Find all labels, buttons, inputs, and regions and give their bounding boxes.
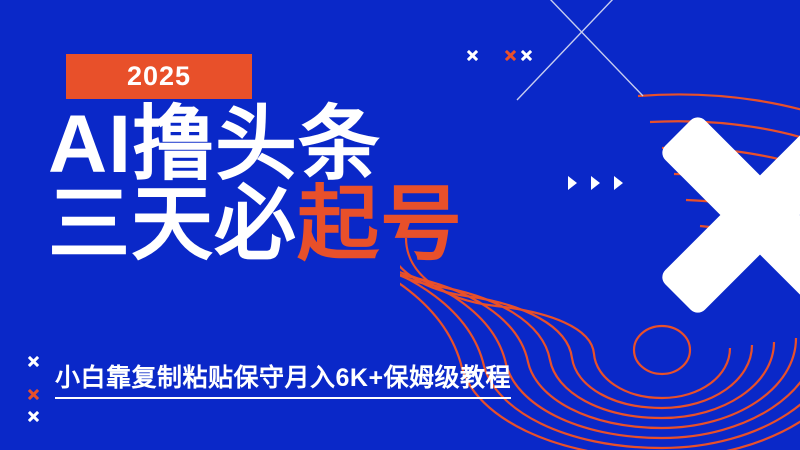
subtitle-text: 小白靠复制粘贴保守月入6K+保姆级教程	[55, 358, 511, 399]
year-badge-label: 2025	[127, 63, 191, 90]
headline-line-1: AI撸头条	[48, 105, 608, 185]
headline-line-2-accent: 起号	[297, 179, 463, 270]
headline-line-2: 三天必起号	[48, 185, 608, 265]
headline-line-2-white: 三天必	[48, 179, 297, 270]
year-badge: 2025	[66, 54, 252, 99]
poster-content: 2025 AI撸头条 三天必起号 小白靠复制粘贴保守月入6K+保姆级教程	[0, 0, 800, 450]
headline-block: AI撸头条 三天必起号	[48, 105, 608, 266]
poster-canvas: 2025 AI撸头条 三天必起号 小白靠复制粘贴保守月入6K+保姆级教程	[0, 0, 800, 450]
